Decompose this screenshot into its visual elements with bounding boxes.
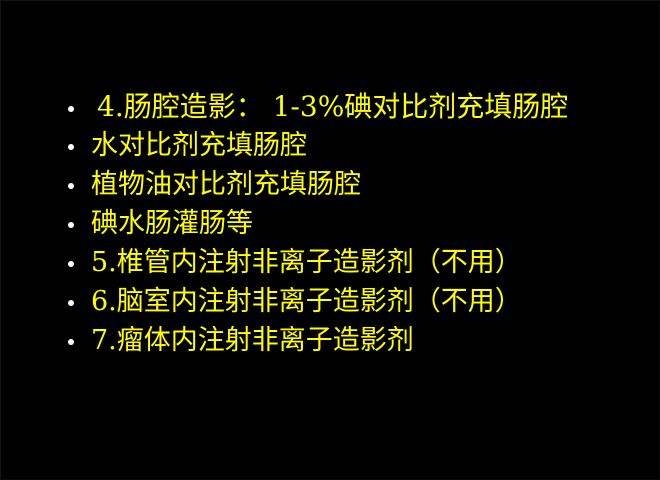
list-item: 4.肠腔造影： 1-3%碘对比剂充填肠腔	[1, 87, 660, 126]
bullet-dot-icon	[68, 106, 74, 112]
list-item-label: 碘水肠灌肠等	[91, 204, 253, 243]
slide-body-content: 4.肠腔造影： 1-3%碘对比剂充填肠腔 水对比剂充填肠腔 植物油对比剂充填肠腔…	[1, 87, 660, 360]
list-item: 水对比剂充填肠腔	[1, 126, 660, 165]
list-item: 植物油对比剂充填肠腔	[1, 165, 660, 204]
bullet-dot-icon	[68, 222, 74, 228]
list-item-label: 水对比剂充填肠腔	[91, 126, 307, 165]
list-item: 碘水肠灌肠等	[1, 204, 660, 243]
list-item-label: 植物油对比剂充填肠腔	[91, 165, 361, 204]
bullet-dot-icon	[68, 300, 74, 306]
bullet-dot-icon	[68, 261, 74, 267]
bullet-dot-icon	[68, 183, 74, 189]
list-item-label: 4.肠腔造影： 1-3%碘对比剂充填肠腔	[97, 87, 568, 126]
presentation-slide: 4.肠腔造影： 1-3%碘对比剂充填肠腔 水对比剂充填肠腔 植物油对比剂充填肠腔…	[0, 0, 660, 480]
bullet-dot-icon	[68, 144, 74, 150]
list-item-label: 6.脑室内注射非离子造影剂（不用）	[91, 282, 522, 321]
list-item-label: 5.椎管内注射非离子造影剂（不用）	[91, 243, 522, 282]
bullet-dot-icon	[68, 339, 74, 345]
list-item: 5.椎管内注射非离子造影剂（不用）	[1, 243, 660, 282]
list-item-label: 7.瘤体内注射非离子造影剂	[91, 321, 414, 360]
list-item: 7.瘤体内注射非离子造影剂	[1, 321, 660, 360]
list-item: 6.脑室内注射非离子造影剂（不用）	[1, 282, 660, 321]
